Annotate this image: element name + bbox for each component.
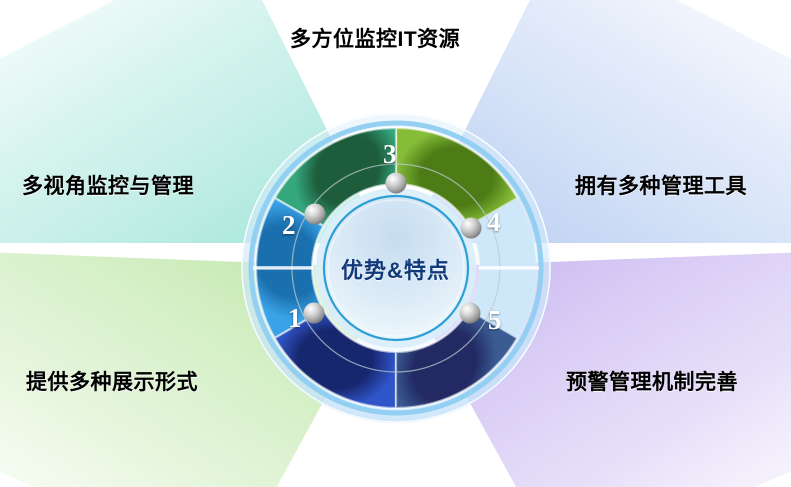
label-left-bottom: 提供多种展示形式 bbox=[26, 366, 198, 396]
label-right-bottom: 预警管理机制完善 bbox=[566, 366, 738, 396]
donut-wheel bbox=[0, 0, 791, 487]
label-right-top: 拥有多种管理工具 bbox=[575, 170, 747, 200]
center-circle bbox=[324, 196, 468, 340]
ring-split-left bbox=[253, 266, 313, 269]
marker-5[interactable] bbox=[460, 303, 481, 324]
marker-1[interactable] bbox=[304, 303, 325, 324]
marker-3[interactable] bbox=[386, 173, 407, 194]
label-left-top: 多视角监控与管理 bbox=[22, 170, 194, 200]
infographic-canvas: 1 2 3 4 5 优势&特点 多方位监控IT资源 多视角监控与管理 提供多种展… bbox=[0, 0, 791, 487]
marker-4[interactable] bbox=[461, 218, 482, 239]
ring-split-right bbox=[479, 266, 539, 269]
label-top: 多方位监控IT资源 bbox=[290, 23, 460, 53]
marker-2[interactable] bbox=[305, 204, 326, 225]
